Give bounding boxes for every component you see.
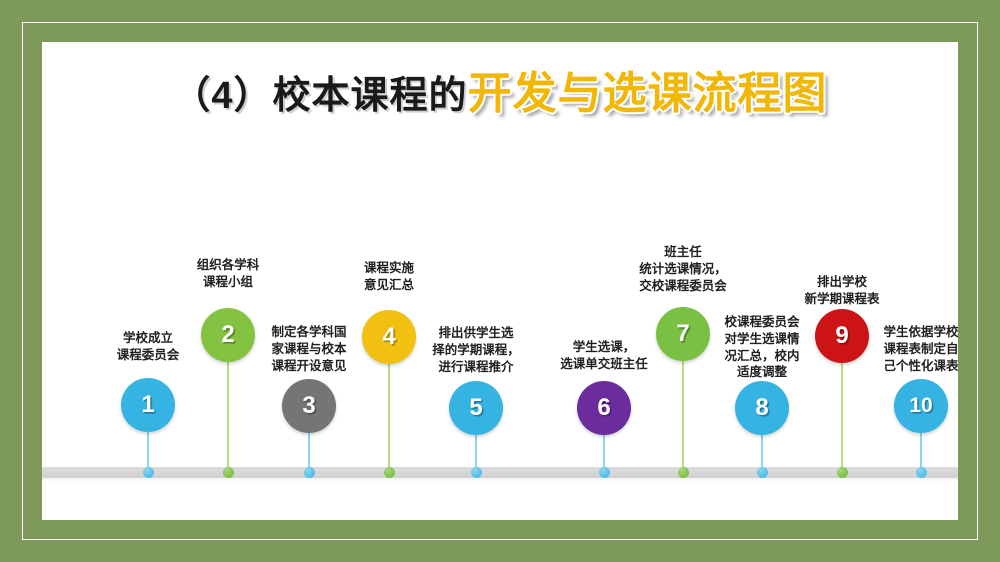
step-connector-line xyxy=(227,360,229,473)
step-number-bubble[interactable]: 5 xyxy=(449,381,503,435)
step-axis-dot[interactable] xyxy=(678,467,689,478)
step-axis-dot[interactable] xyxy=(384,467,395,478)
step-number-bubble[interactable]: 8 xyxy=(735,381,789,435)
step-caption: 制定各学科国 家课程与校本 课程开设意见 xyxy=(257,324,361,374)
step-caption: 排出学校 新学期课程表 xyxy=(790,274,894,308)
step-axis-dot[interactable] xyxy=(471,467,482,478)
step-axis-dot[interactable] xyxy=(599,467,610,478)
step-caption: 班主任 统计选课情况， 交校课程委员会 xyxy=(631,244,735,294)
step-connector-line xyxy=(388,362,390,473)
step-number: 9 xyxy=(835,322,848,350)
step-number-bubble[interactable]: 9 xyxy=(815,309,869,363)
step-caption: 课程实施 意见汇总 xyxy=(337,260,441,294)
step-number-bubble[interactable]: 3 xyxy=(282,379,336,433)
step-caption: 学生选课， 选课单交班主任 xyxy=(552,339,656,373)
step-number-bubble[interactable]: 7 xyxy=(656,307,710,361)
step-number: 8 xyxy=(755,394,768,422)
step-caption: 学生依据学校 课程表制定自 己个性化课表 xyxy=(869,324,958,374)
step-caption: 校课程委员会 对学生选课情 况汇总，校内 适度调整 xyxy=(710,314,814,381)
step-number-bubble[interactable]: 2 xyxy=(201,308,255,362)
step-caption: 排出供学生选 择的学期课程， 进行课程推介 xyxy=(424,325,528,375)
step-number: 5 xyxy=(469,394,482,422)
step-number: 6 xyxy=(597,394,610,422)
step-number: 4 xyxy=(382,323,395,351)
step-caption: 组织各学科 课程小组 xyxy=(176,257,280,291)
step-axis-dot[interactable] xyxy=(757,467,768,478)
step-connector-line xyxy=(682,359,684,473)
step-connector-line xyxy=(841,361,843,473)
step-axis-dot[interactable] xyxy=(143,467,154,478)
step-number: 7 xyxy=(676,320,689,348)
step-number-bubble[interactable]: 1 xyxy=(121,378,175,432)
flowchart-steps: 学校成立 课程委员会1组织各学科 课程小组2制定各学科国 家课程与校本 课程开设… xyxy=(42,42,958,520)
step-number-bubble[interactable]: 6 xyxy=(577,381,631,435)
step-number: 1 xyxy=(141,391,154,419)
slide-canvas: （4）校本课程的开发与选课流程图 学校成立 课程委员会1组织各学科 课程小组2制… xyxy=(42,42,958,520)
step-number-bubble[interactable]: 4 xyxy=(362,310,416,364)
step-number: 10 xyxy=(909,394,932,418)
step-number: 2 xyxy=(221,321,234,349)
step-axis-dot[interactable] xyxy=(837,467,848,478)
step-axis-dot[interactable] xyxy=(304,467,315,478)
step-axis-dot[interactable] xyxy=(916,467,927,478)
step-axis-dot[interactable] xyxy=(223,467,234,478)
step-number-bubble[interactable]: 10 xyxy=(894,379,948,433)
step-caption: 学校成立 课程委员会 xyxy=(96,330,200,364)
step-number: 3 xyxy=(302,392,315,420)
